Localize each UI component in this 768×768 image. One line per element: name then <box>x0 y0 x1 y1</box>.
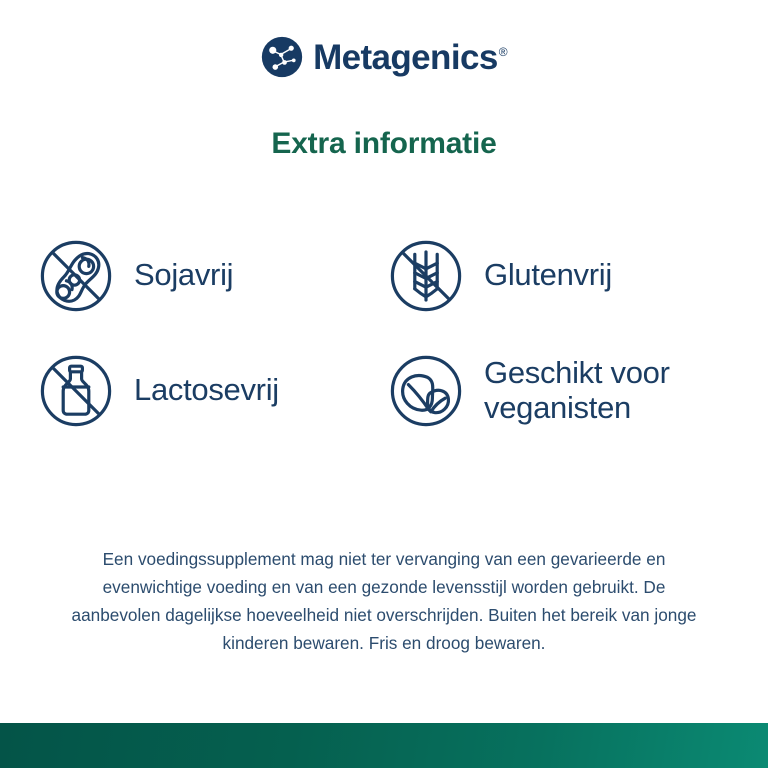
extra-information-card: Metagenics® Extra informatie Sojavrij <box>0 0 768 768</box>
no-lactose-bottle-icon <box>36 351 116 431</box>
registered-trademark-symbol: ® <box>499 45 507 59</box>
claim-item-geschikt-voor-veganisten: Geschikt voor veganisten <box>386 333 766 448</box>
footer-bar <box>0 723 768 768</box>
no-soy-icon <box>36 236 116 316</box>
disclaimer-text: Een voedingssupplement mag niet ter verv… <box>64 546 704 657</box>
no-gluten-wheat-icon <box>386 236 466 316</box>
claim-label: Geschikt voor veganisten <box>484 356 766 425</box>
vegan-leaves-icon <box>386 351 466 431</box>
claim-label: Glutenvrij <box>484 258 612 293</box>
metagenics-molecule-logo-icon <box>261 36 303 78</box>
claim-label: Sojavrij <box>134 258 233 293</box>
brand-name-text: Metagenics <box>313 38 498 77</box>
brand-header: Metagenics® <box>0 0 768 84</box>
brand-wordmark: Metagenics® <box>313 40 507 75</box>
claim-item-lactosevrij: Lactosevrij <box>36 333 386 448</box>
page-title: Extra informatie <box>0 127 768 161</box>
claim-label: Lactosevrij <box>134 373 279 408</box>
claim-item-glutenvrij: Glutenvrij <box>386 218 766 333</box>
claim-item-sojavrij: Sojavrij <box>36 218 386 333</box>
claims-grid: Sojavrij <box>0 218 768 448</box>
